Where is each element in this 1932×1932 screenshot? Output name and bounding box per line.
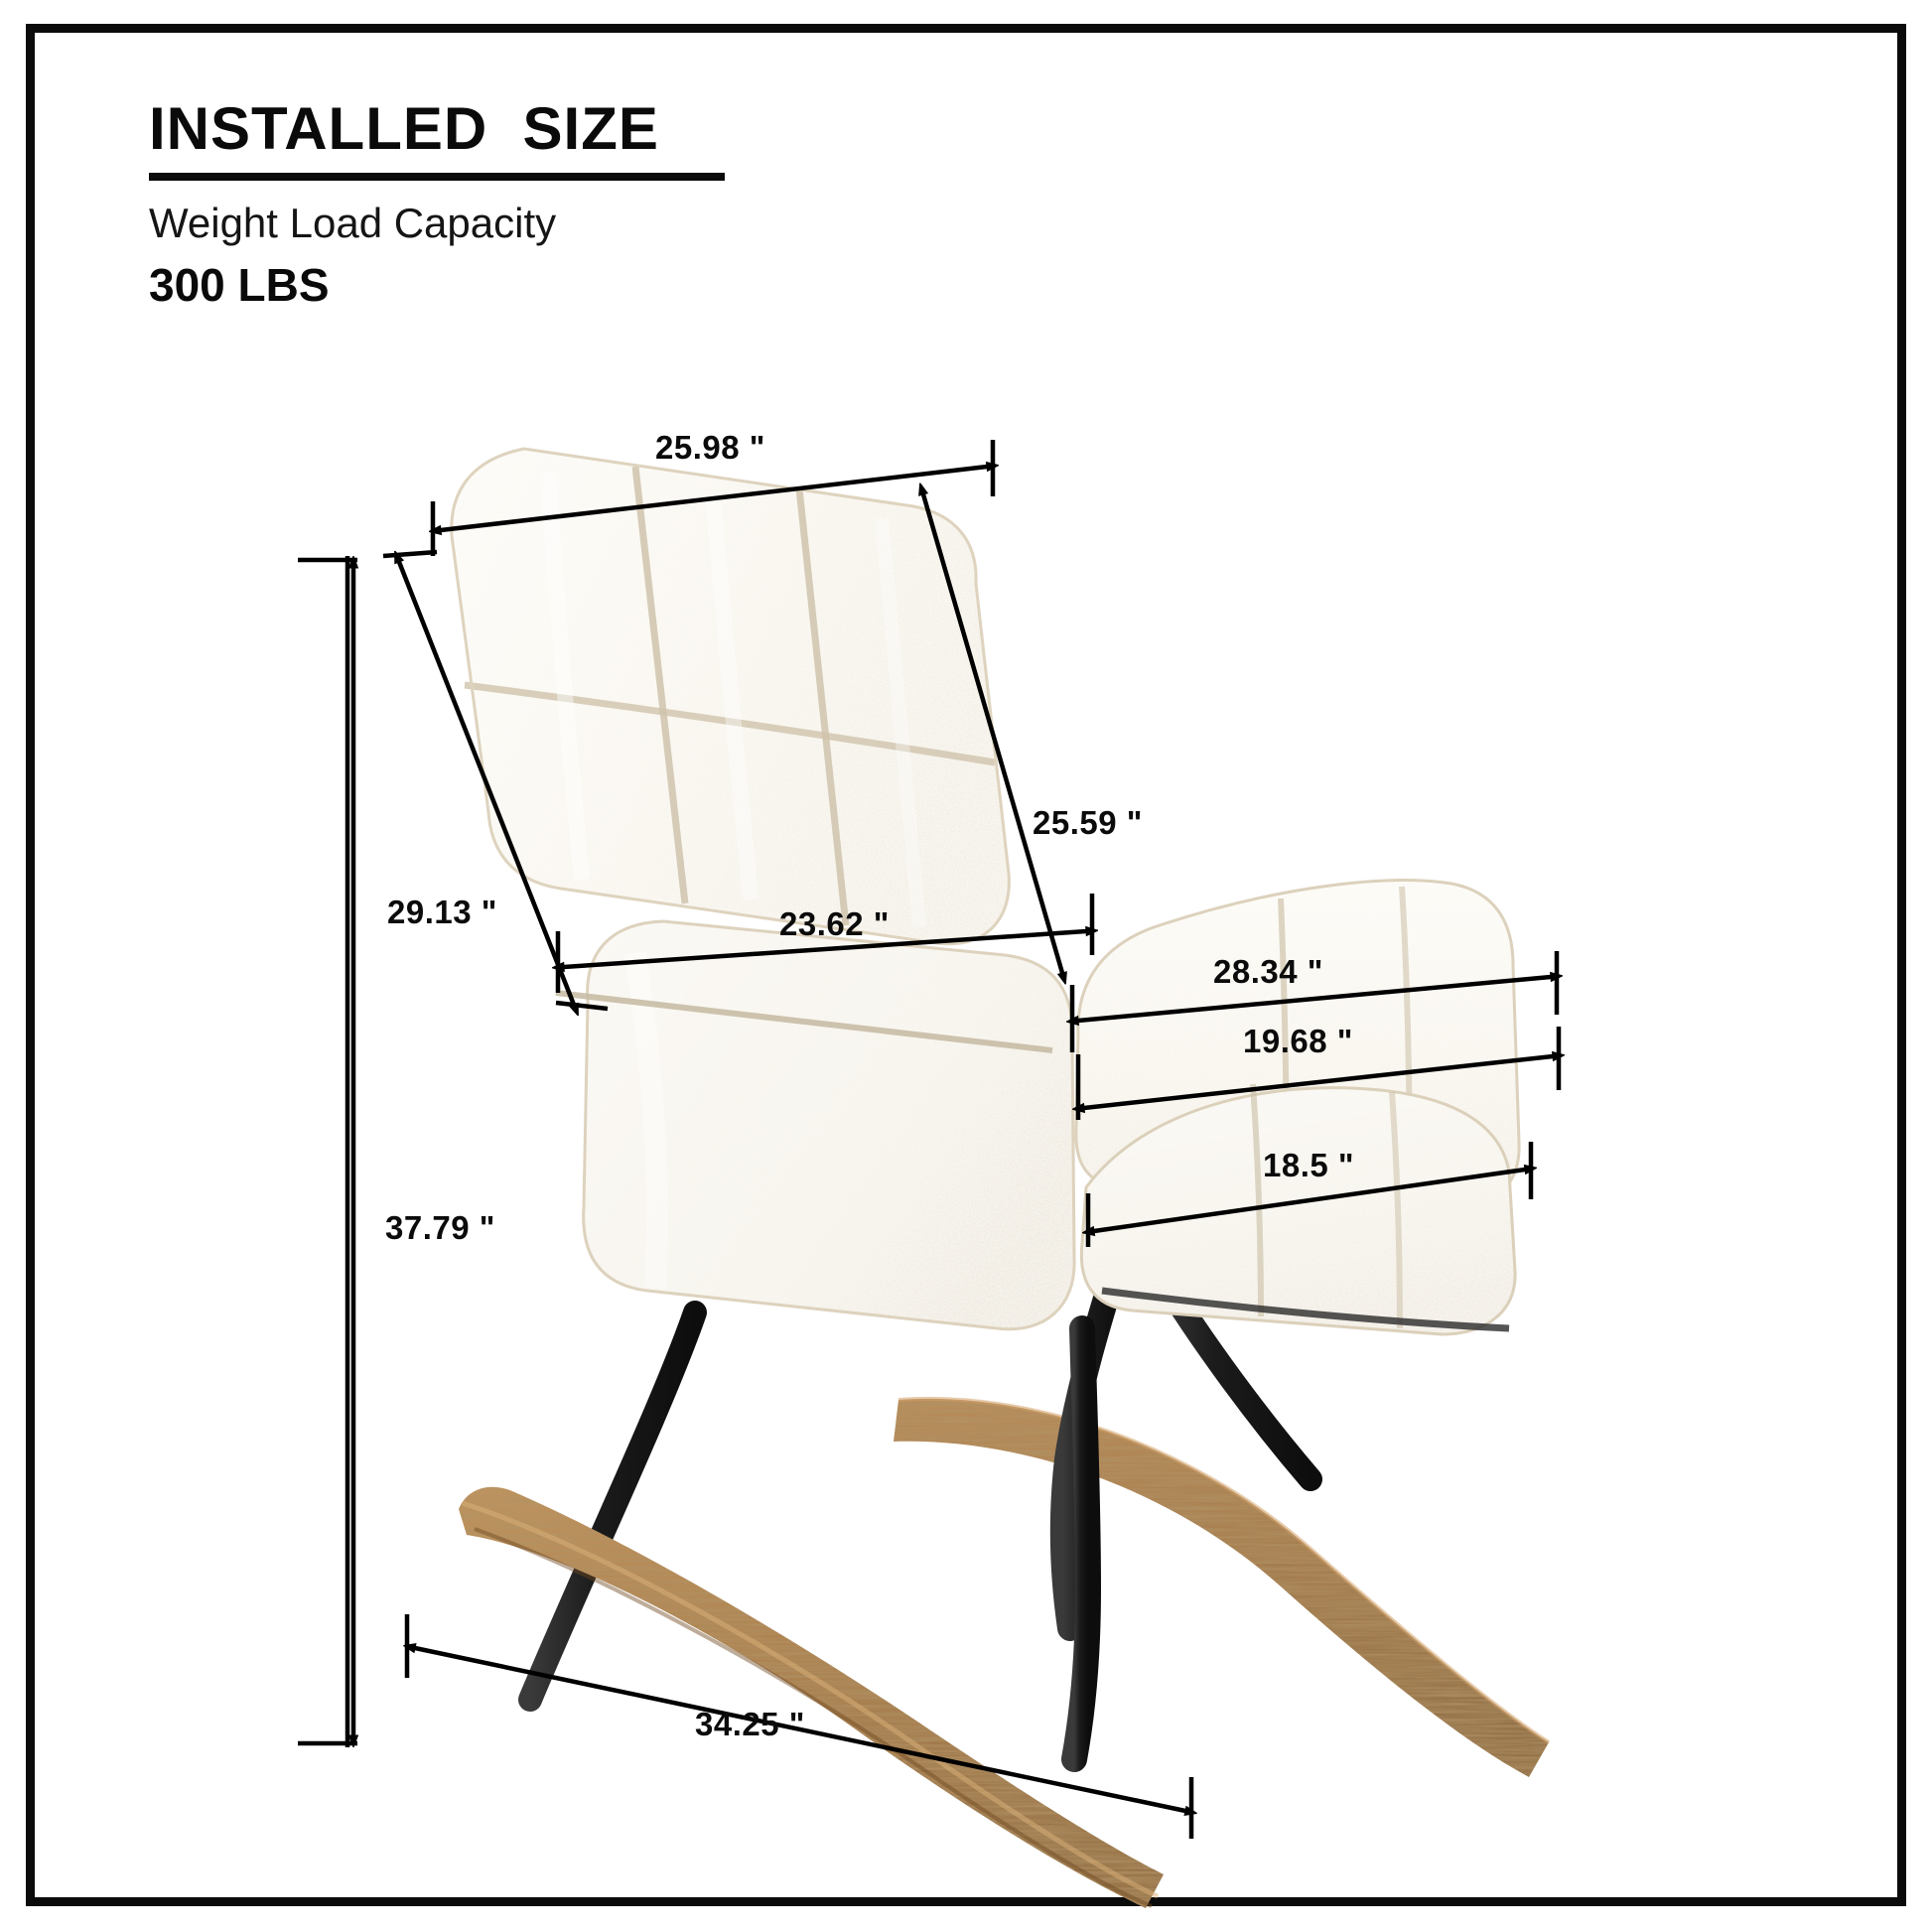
dimension-label-backrest-height: 25.59 " xyxy=(1033,804,1143,842)
dimension-label-rocker-base-length: 34.25 " xyxy=(695,1706,805,1743)
dimension-label-seat-back-width: 23.62 " xyxy=(779,905,890,943)
dimension-label-seat-width: 18.5 " xyxy=(1263,1147,1354,1184)
dimension-label-overall-height: 29.13 " xyxy=(387,894,497,931)
product-dimension-diagram: INSTALLED SIZE Weight Load Capacity 300 … xyxy=(0,0,1932,1932)
dimension-label-backrest-width: 25.98 " xyxy=(655,429,765,467)
chair-backrest xyxy=(452,449,1010,944)
dimension-label-overall-depth: 28.34 " xyxy=(1213,953,1323,991)
dimension-label-total-height: 37.79 " xyxy=(385,1209,495,1247)
chair-illustration: 25.98 " 25.59 " 29.13 " 23.62 " 28.34 " … xyxy=(0,0,1932,1932)
wooden-rocker-runner-rear xyxy=(894,1399,1549,1777)
tick-2913-top xyxy=(383,552,437,556)
dimension-label-seat-depth: 19.68 " xyxy=(1243,1023,1353,1060)
chair-side-panel-left xyxy=(584,921,1074,1329)
